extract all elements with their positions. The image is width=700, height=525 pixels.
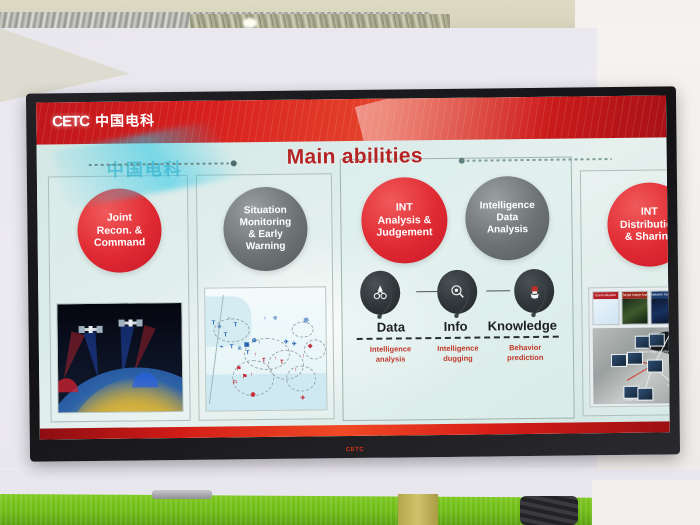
panel-joint-recon-command[interactable]: Joint Recon. & Command	[48, 175, 191, 423]
bubble-intelligence-data-analysis[interactable]: Intelligence Data Analysis	[465, 176, 550, 261]
tv-stand-foot	[152, 490, 212, 499]
tv-screen[interactable]: CETC 中国电科 中国电科 Main abilities Joint Reco…	[36, 95, 670, 439]
flow-step-titles: Data Info Knowledge	[355, 318, 561, 335]
map-node[interactable]	[611, 354, 627, 367]
exhibition-scene: CETC 中国电科 中国电科 Main abilities Joint Reco…	[0, 0, 700, 525]
map-node[interactable]	[649, 333, 665, 346]
map-node-label: Node B	[625, 398, 636, 402]
wall-display[interactable]: CETC 中国电科 中国电科 Main abilities Joint Reco…	[26, 86, 680, 461]
flow-title-info: Info	[425, 318, 486, 334]
ceiling-light-icon	[243, 18, 257, 28]
flow-node-info[interactable]	[437, 270, 477, 314]
booth-pillar	[398, 494, 438, 525]
bubble-situation-monitoring[interactable]: Situation Monitoring & Early Warning	[223, 187, 308, 272]
bubble-int-distribution-sharing[interactable]: INT Distribution & Sharing	[607, 182, 670, 267]
bezel-brand-logo: CETC	[346, 447, 364, 453]
brain-gear-icon	[525, 281, 544, 300]
report-card[interactable]: Network Target Data Analysis	[650, 290, 670, 324]
artwork-tactical-map: T ⌾ ↑ T T ⌁ T ⌾ ▣ T ⊕ ↑ ↑	[204, 286, 327, 411]
bubble-line: INT	[396, 201, 413, 213]
beam-red-left	[57, 331, 85, 381]
report-card-thumb	[622, 299, 647, 324]
cetc-logo: CETC 中国电科	[52, 110, 155, 131]
flow-subtitle-info: Intelligence dugging	[424, 343, 492, 364]
satellite-icon	[80, 328, 102, 331]
magnifier-icon	[448, 283, 466, 301]
bubble-line: Analysis	[487, 224, 528, 235]
flow-node-knowledge[interactable]	[514, 269, 554, 313]
panel-int-distribution-sharing[interactable]: INT Distribution & Sharing Event situati…	[580, 169, 670, 417]
page-title: Main abilities	[287, 144, 423, 170]
flow-subtitle-knowledge: Behavior prediction	[491, 343, 559, 364]
coverage-dome-red	[56, 378, 78, 392]
header-ghost-chinese: 中国电科	[107, 155, 183, 181]
map-zone-ring	[292, 321, 314, 337]
map-node-label: Node A	[667, 383, 670, 387]
bubble-line: Monitoring	[240, 217, 292, 229]
map-node-center[interactable]	[647, 359, 663, 372]
bubble-line: Distribution	[620, 218, 670, 231]
ability-panels: Joint Recon. & Command	[48, 170, 659, 423]
bubble-line: Judgement	[376, 226, 432, 239]
floor-right-strip	[592, 480, 700, 525]
flow-step-subtitles: Intelligence analysis Intelligence duggi…	[355, 343, 561, 366]
satellite-icon	[120, 321, 142, 324]
bubble-line: Joint	[107, 211, 132, 223]
report-card[interactable]: Event situation	[592, 291, 619, 325]
bubble-int-analysis-judgement[interactable]: INT Analysis & Judgement	[361, 177, 448, 264]
data-funnel-icon	[370, 283, 390, 303]
flow-divider	[357, 336, 559, 340]
map-node-label: Radar target intelligence	[639, 349, 670, 353]
cetc-logo-mark: CETC	[52, 112, 89, 129]
flow-connector	[486, 290, 510, 291]
bubble-line: Command	[94, 237, 145, 250]
display-tyre-prop	[520, 496, 578, 525]
artwork-satellite-earth	[56, 302, 183, 413]
map-node[interactable]	[637, 388, 653, 401]
flow-title-knowledge: Knowledge	[486, 318, 559, 334]
bubble-line: Warning	[246, 241, 286, 252]
report-card[interactable]: Target Image Analysis	[621, 291, 648, 325]
flow-node-data[interactable]	[360, 270, 400, 314]
report-card-row: Event situation Target Image Analysis Ne…	[592, 290, 670, 325]
bubble-line: Recon. &	[97, 224, 143, 237]
panel-int-analysis-judgement[interactable]: INT Analysis & Judgement Intelligence Da…	[340, 157, 575, 422]
bubble-line: INT	[641, 205, 658, 217]
flow-nodes-row	[354, 266, 561, 318]
artwork-intel-dashboards: Event situation Target Image Analysis Ne…	[588, 286, 670, 407]
cetc-logo-chinese: 中国电科	[95, 110, 155, 131]
panel-situation-monitoring[interactable]: Situation Monitoring & Early Warning	[196, 173, 335, 421]
report-card-thumb	[593, 299, 618, 324]
flow-title-data: Data	[357, 319, 426, 335]
bubble-line: & Early	[248, 229, 283, 240]
bubble-line: Situation	[244, 204, 287, 215]
report-card-thumb	[651, 298, 670, 323]
bubble-line: Analysis &	[377, 214, 431, 227]
flow-subtitle-data: Intelligence analysis	[357, 344, 425, 365]
bubble-line: Intelligence	[480, 200, 535, 212]
bubble-line: & Sharing	[625, 231, 670, 244]
data-info-knowledge-flow: Data Info Knowledge Intelligence analysi…	[354, 266, 561, 366]
header-sheen	[355, 95, 667, 144]
bubble-line: Data	[496, 212, 518, 223]
satellite-node-map: Radar target intelligence Node A Node B	[593, 327, 670, 404]
tv-bezel: CETC 中国电科 中国电科 Main abilities Joint Reco…	[26, 86, 680, 461]
